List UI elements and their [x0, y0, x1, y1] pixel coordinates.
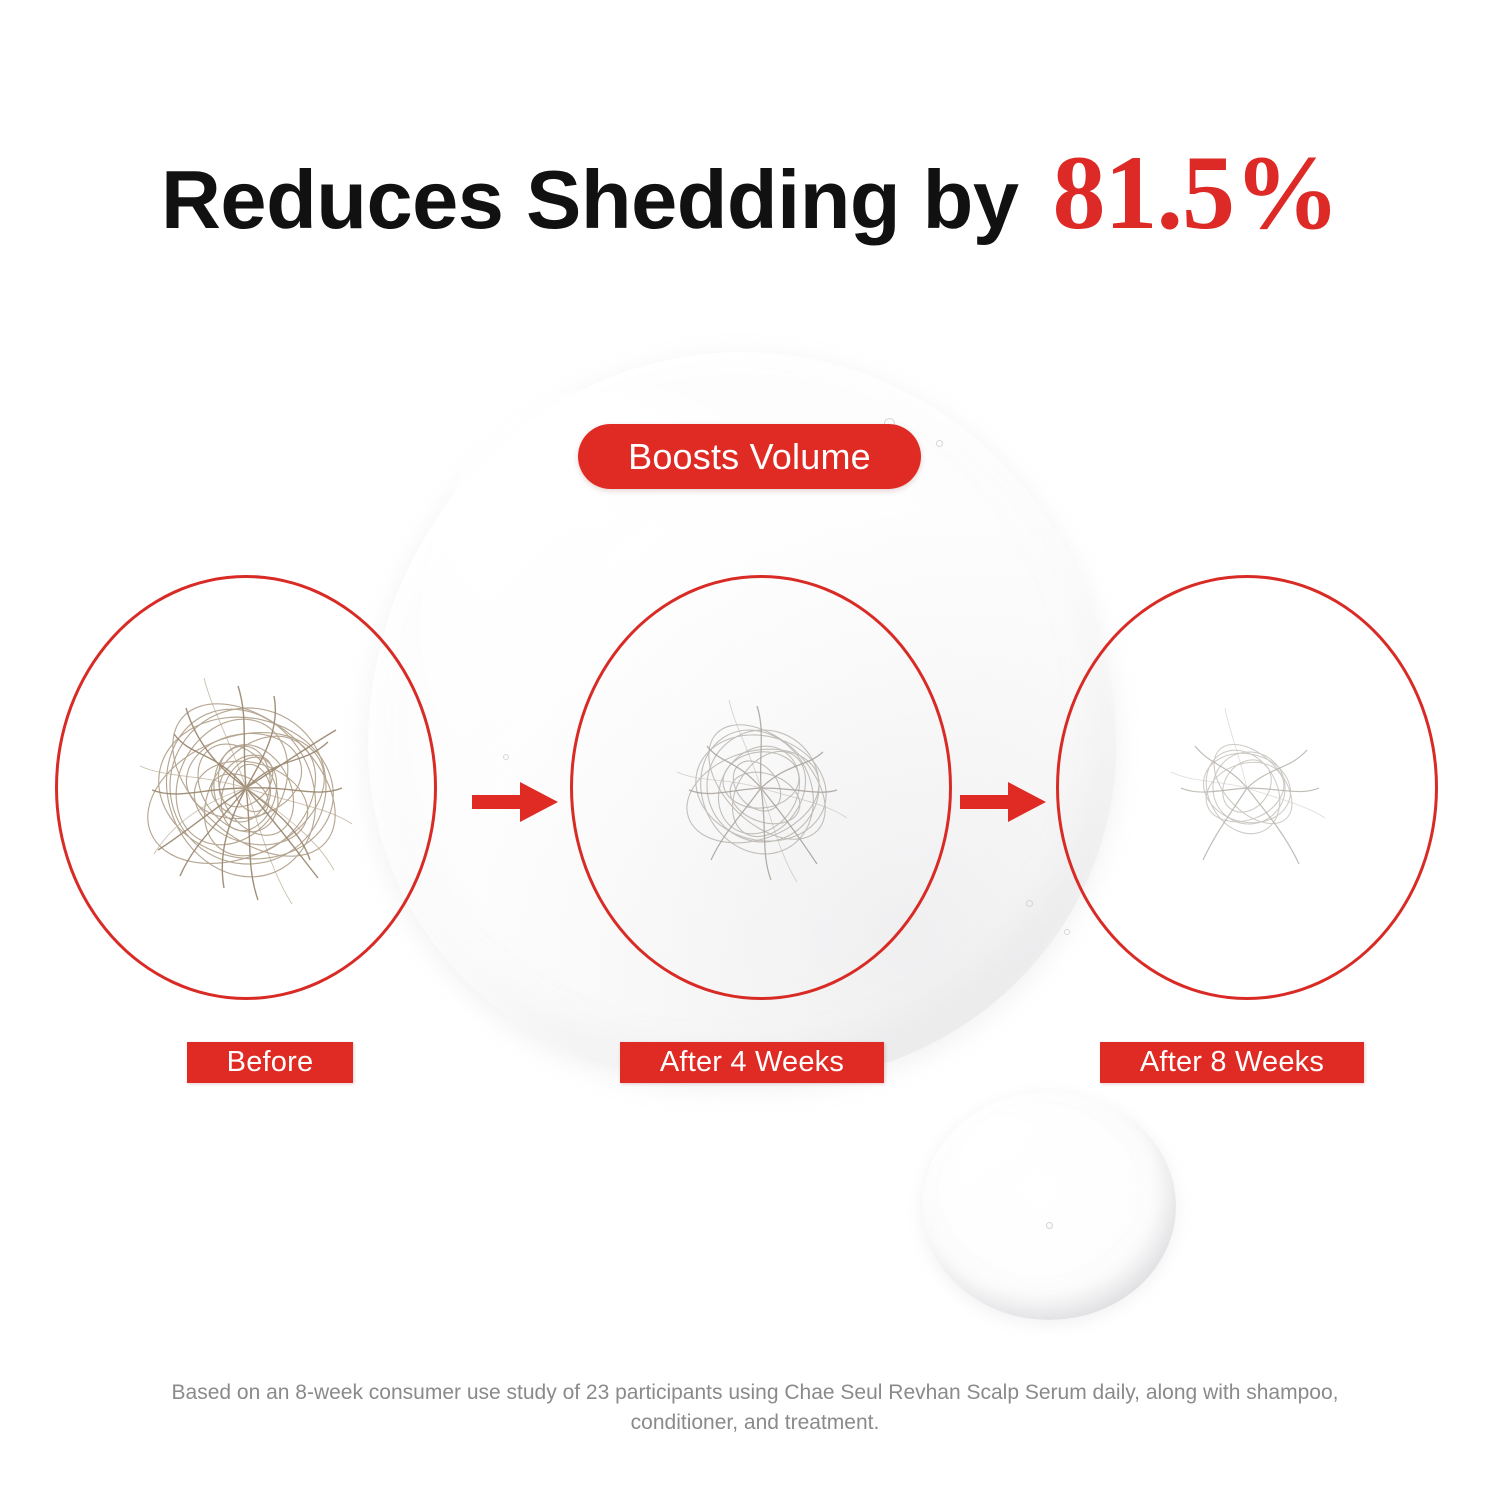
droplet-speck — [1046, 1222, 1053, 1229]
stage-label-after-8-weeks: After 8 Weeks — [1100, 1042, 1364, 1083]
headline-stat-value: 81.5% — [1053, 134, 1340, 251]
footnote-line-2: conditioner, and treatment. — [631, 1411, 880, 1434]
arrow-right-icon — [472, 782, 558, 822]
page-title: Reduces Shedding by81.5% — [0, 140, 1500, 246]
bubble-speck — [503, 754, 509, 760]
headline-main-text: Reduces Shedding by — [161, 153, 1019, 246]
boosts-volume-badge: Boosts Volume — [578, 424, 921, 489]
footnote-disclaimer: Based on an 8-week consumer use study of… — [150, 1378, 1360, 1439]
comparison-circle-before — [55, 575, 437, 1000]
stage-label-after-4-weeks: After 4 Weeks — [620, 1042, 884, 1083]
arrow-right-icon — [960, 782, 1046, 822]
stage-label-before: Before — [187, 1042, 353, 1083]
bubble-speck — [1026, 900, 1033, 907]
arrow-head — [520, 782, 558, 822]
comparison-circle-after-4-weeks — [570, 575, 952, 1000]
infographic-stage: Reduces Shedding by81.5% Boosts Volume — [0, 0, 1500, 1500]
hair-clump-after-4-weeks — [641, 668, 881, 908]
footnote-line-1: Based on an 8-week consumer use study of… — [172, 1381, 1339, 1404]
hair-clump-before — [96, 638, 396, 938]
bubble-speck — [1064, 929, 1070, 935]
bubble-speck — [936, 440, 943, 447]
arrow-head — [1008, 782, 1046, 822]
serum-droplet — [922, 1092, 1176, 1320]
comparison-circle-after-8-weeks — [1056, 575, 1438, 1000]
hair-clump-after-8-weeks — [1147, 688, 1347, 888]
